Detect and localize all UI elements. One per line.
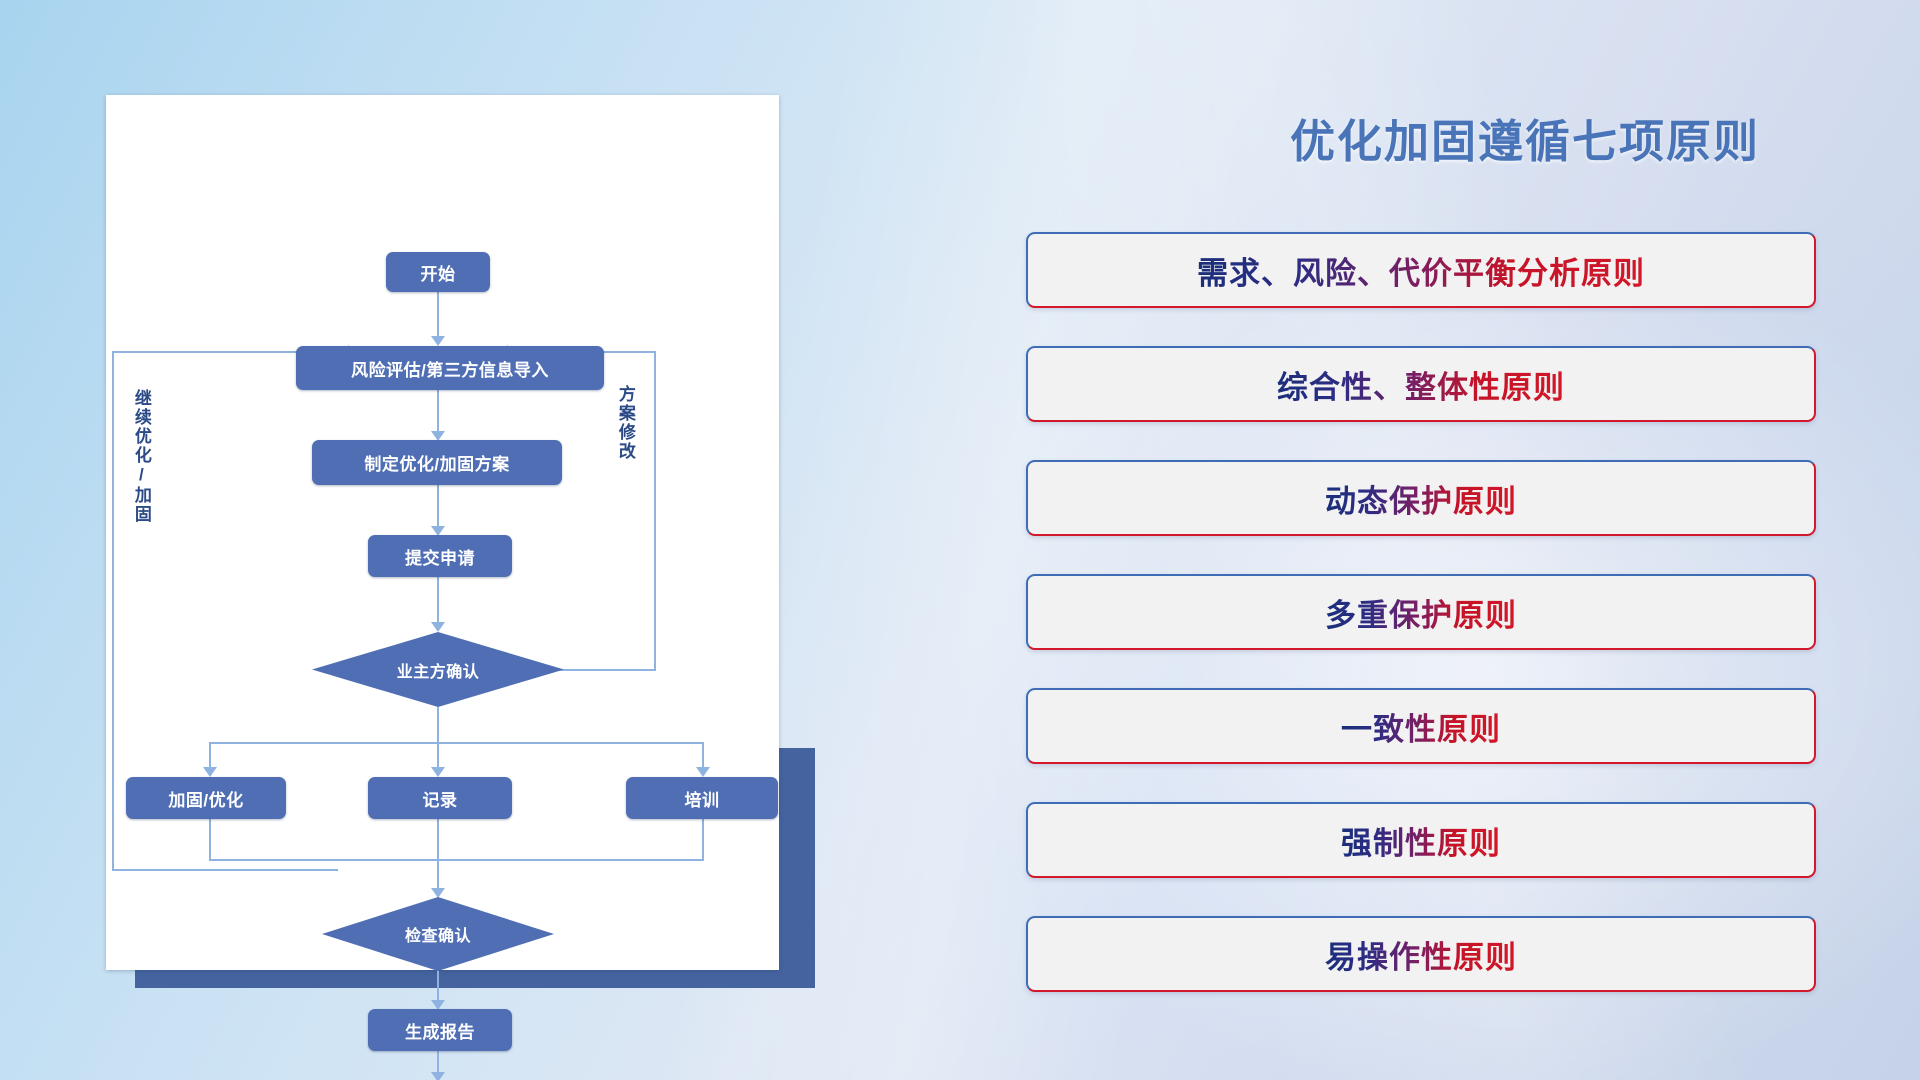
flowchart-canvas: 继续优化/加固 方案修改 开始 风险评估/第三方信息导入 制定优化/加固方案 提… bbox=[106, 95, 779, 970]
principle-card[interactable]: 强制性原则 bbox=[1026, 802, 1816, 878]
edge-start-to-risk-arrow bbox=[431, 336, 445, 346]
edge-plan-to-submit bbox=[437, 485, 439, 529]
edge-reinforce-down bbox=[209, 819, 211, 861]
edge-owner-to-training bbox=[702, 742, 704, 770]
flow-node-record[interactable]: 记录 bbox=[368, 777, 512, 819]
flow-node-inspect-confirm-label: 检查确认 bbox=[322, 897, 554, 971]
slide-canvas: 继续优化/加固 方案修改 开始 风险评估/第三方信息导入 制定优化/加固方案 提… bbox=[0, 0, 1920, 1080]
edge-submit-to-owner bbox=[437, 577, 439, 625]
edge-right-loop-vertical bbox=[654, 351, 656, 671]
edge-label-plan-revision: 方案修改 bbox=[616, 385, 634, 461]
principle-label: 强制性原则 bbox=[1341, 818, 1501, 863]
edge-inspect-to-report bbox=[437, 971, 439, 1003]
edge-left-loop-bottom bbox=[112, 869, 338, 871]
principle-label: 需求、风险、代价平衡分析原则 bbox=[1197, 248, 1645, 293]
principle-label: 一致性原则 bbox=[1341, 704, 1501, 749]
principle-label: 动态保护原则 bbox=[1325, 476, 1517, 521]
edge-fanin-stem bbox=[437, 859, 439, 891]
edge-owner-fanout-bar bbox=[209, 742, 704, 744]
principle-card[interactable]: 综合性、整体性原则 bbox=[1026, 346, 1816, 422]
edge-fanin-bar bbox=[209, 859, 704, 861]
edge-owner-to-reinforce-arrow bbox=[203, 767, 217, 777]
edge-label-continue-optimize: 继续优化/加固 bbox=[132, 389, 150, 524]
edge-start-to-risk bbox=[437, 292, 439, 339]
flow-node-reinforce[interactable]: 加固/优化 bbox=[126, 777, 286, 819]
edge-owner-fanout-stem bbox=[437, 707, 439, 743]
flow-node-owner-confirm[interactable]: 业主方确认 bbox=[312, 632, 564, 707]
flow-node-training[interactable]: 培训 bbox=[626, 777, 778, 819]
principle-card[interactable]: 需求、风险、代价平衡分析原则 bbox=[1026, 232, 1816, 308]
edge-owner-to-record-arrow bbox=[431, 767, 445, 777]
principle-card[interactable]: 动态保护原则 bbox=[1026, 460, 1816, 536]
flow-node-inspect-confirm[interactable]: 检查确认 bbox=[322, 897, 554, 971]
edge-risk-to-plan bbox=[437, 390, 439, 434]
principle-card[interactable]: 易操作性原则 bbox=[1026, 916, 1816, 992]
principles-list: 需求、风险、代价平衡分析原则 综合性、整体性原则 动态保护原则 多重保护原则 一… bbox=[1026, 232, 1816, 1030]
edge-report-to-end-arrow bbox=[431, 1072, 445, 1080]
flow-node-start[interactable]: 开始 bbox=[386, 252, 490, 292]
flow-node-submit-application[interactable]: 提交申请 bbox=[368, 535, 512, 577]
principle-card[interactable]: 一致性原则 bbox=[1026, 688, 1816, 764]
principle-card[interactable]: 多重保护原则 bbox=[1026, 574, 1816, 650]
edge-owner-to-record bbox=[437, 742, 439, 770]
edge-record-down bbox=[437, 819, 439, 861]
flow-node-make-plan[interactable]: 制定优化/加固方案 bbox=[312, 440, 562, 485]
edge-training-down bbox=[702, 819, 704, 861]
principle-label: 多重保护原则 bbox=[1325, 590, 1517, 635]
flow-node-generate-report[interactable]: 生成报告 bbox=[368, 1009, 512, 1051]
principle-label: 综合性、整体性原则 bbox=[1277, 362, 1565, 407]
flowchart-card: 继续优化/加固 方案修改 开始 风险评估/第三方信息导入 制定优化/加固方案 提… bbox=[106, 95, 779, 970]
edge-left-loop-vertical bbox=[112, 351, 114, 871]
flow-node-risk-assessment[interactable]: 风险评估/第三方信息导入 bbox=[296, 346, 604, 390]
flow-node-owner-confirm-label: 业主方确认 bbox=[312, 632, 564, 707]
principle-label: 易操作性原则 bbox=[1325, 932, 1517, 977]
page-title: 优化加固遵循七项原则 bbox=[1155, 105, 1895, 170]
edge-owner-to-reinforce bbox=[209, 742, 211, 770]
edge-submit-to-owner-arrow bbox=[431, 622, 445, 632]
edge-owner-to-training-arrow bbox=[696, 767, 710, 777]
